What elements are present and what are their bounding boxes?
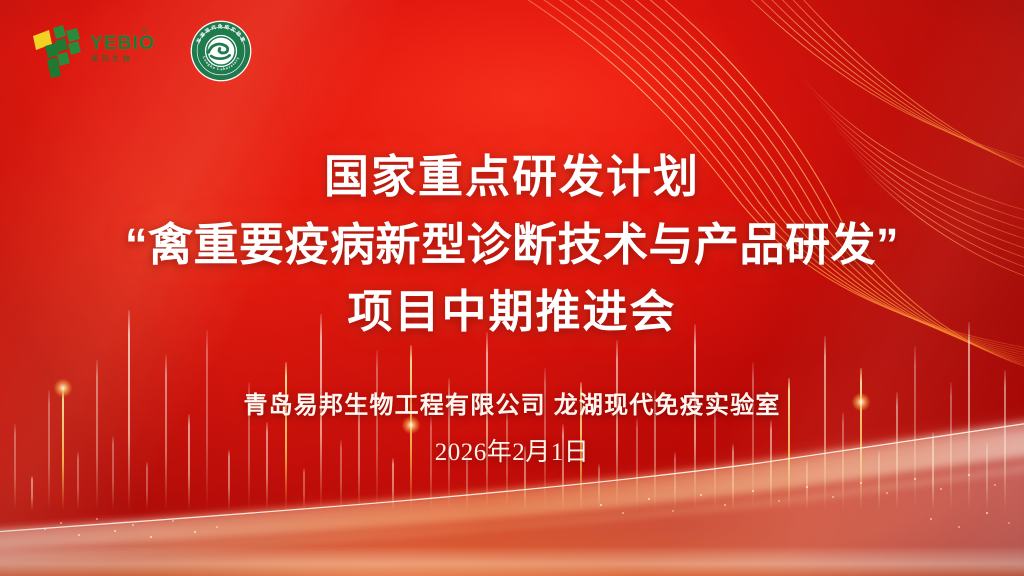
headline-block: 国家重点研发计划 “禽重要疫病新型诊断技术与产品研发” 项目中期推进会 <box>0 150 1024 338</box>
yebio-wordmark: YEBIO <box>90 34 155 53</box>
yebio-mark-icon <box>30 24 86 78</box>
organizers-line: 青岛易邦生物工程有限公司 龙湖现代免疫实验室 <box>0 385 1024 420</box>
logo-row: YEBIO ® 易邦生物 龙湖现代免疫实验室 <box>30 20 252 82</box>
longhu-laboratory-seal: 龙湖现代免疫实验室 Longhu Laboratory <box>190 20 252 82</box>
yebio-logo: YEBIO ® 易邦生物 <box>30 22 162 80</box>
headline-line-1: 国家重点研发计划 <box>0 150 1024 203</box>
title-slide: YEBIO ® 易邦生物 龙湖现代免疫实验室 <box>0 0 1024 576</box>
yebio-trademark: ® <box>142 28 147 35</box>
yebio-subtext: 易邦生物 <box>91 55 133 62</box>
headline-line-3: 项目中期推进会 <box>0 285 1024 338</box>
event-date: 2026年2月1日 <box>0 432 1024 468</box>
headline-line-2: “禽重要疫病新型诊断技术与产品研发” <box>0 218 1024 271</box>
